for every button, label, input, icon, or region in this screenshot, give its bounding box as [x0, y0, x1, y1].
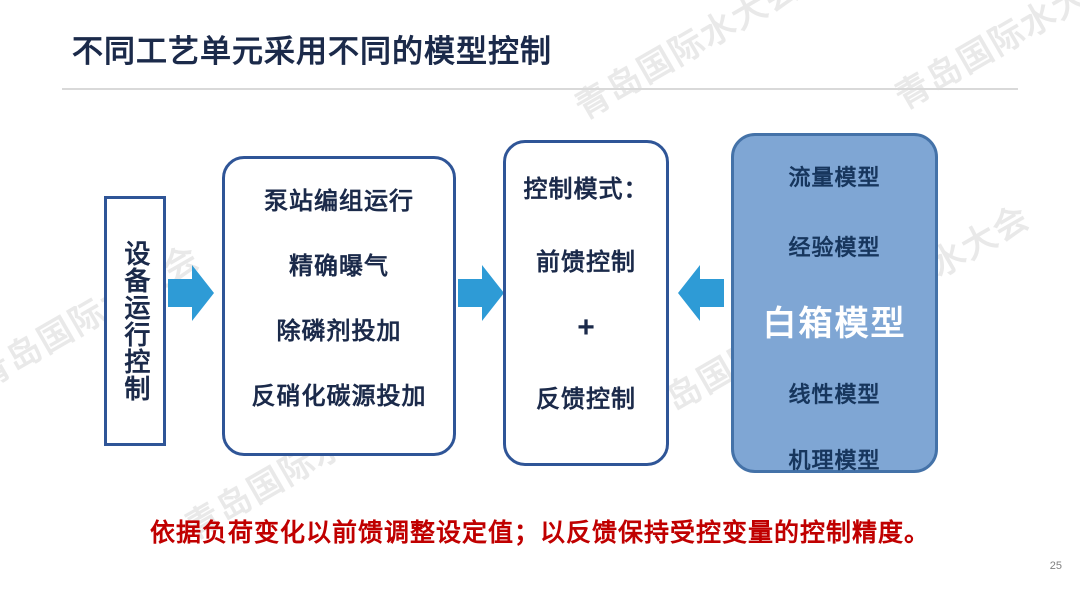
equipment-operation-control-box: 设备运行控制 [104, 196, 166, 446]
arrow-left-icon [678, 265, 724, 321]
watermark: 青岛国际水大会 [885, 0, 1080, 119]
model-item: 线性模型 [734, 377, 935, 409]
model-item: 机理模型 [734, 443, 935, 475]
feedback-control-label: 反馈控制 [506, 379, 666, 414]
watermark: 青岛国际水大会 [565, 0, 808, 129]
model-item: 流量模型 [734, 160, 935, 192]
process-units-box: 泵站编组运行 精确曝气 除磷剂投加 反硝化碳源投加 [222, 156, 456, 456]
model-types-panel: 流量模型 经验模型 白箱模型 线性模型 机理模型 [731, 133, 938, 473]
process-item: 精确曝气 [225, 246, 453, 281]
footer-note: 依据负荷变化以前馈调整设定值；以反馈保持受控变量的控制精度。 [0, 513, 1080, 549]
arrow-right-icon [458, 265, 504, 321]
equipment-operation-control-label: 设备运行控制 [116, 240, 154, 402]
control-mode-box: 控制模式： 前馈控制 + 反馈控制 [503, 140, 669, 466]
title-divider [62, 88, 1018, 90]
process-item: 泵站编组运行 [225, 181, 453, 216]
process-item: 反硝化碳源投加 [225, 376, 453, 411]
feedforward-control-label: 前馈控制 [506, 242, 666, 277]
control-mode-heading: 控制模式： [506, 169, 666, 204]
page-number: 25 [1050, 560, 1062, 572]
plus-sign: + [506, 311, 666, 345]
model-item: 经验模型 [734, 230, 935, 262]
slide: 青岛国际水大会 青岛国际水大会 青岛国际水大会 青岛国际水大会 青岛国际水大会 … [0, 0, 1080, 608]
page-title: 不同工艺单元采用不同的模型控制 [72, 26, 552, 71]
arrow-right-icon [168, 265, 214, 321]
white-box-model-label: 白箱模型 [734, 296, 935, 345]
process-item: 除磷剂投加 [225, 311, 453, 346]
